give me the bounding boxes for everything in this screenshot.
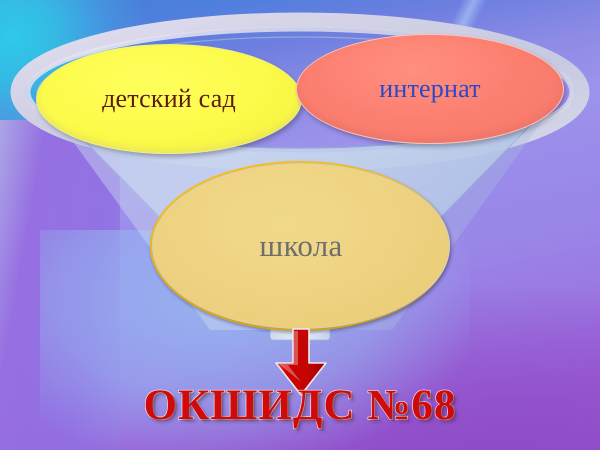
funnel-item-school[interactable]: школа [152,163,450,329]
funnel-item-kindergarten[interactable]: детский сад [36,44,302,154]
slide-title: ОКШИДС №68 [0,381,600,430]
funnel-item-kindergarten-label: детский сад [102,84,236,114]
funnel-item-school-label: школа [259,228,342,264]
funnel-item-boarding-label: интернат [379,74,480,104]
funnel-item-boarding[interactable]: интернат [296,34,564,144]
slide-canvas: школа детский сад интернат ОКШИДС №68 [0,0,600,450]
